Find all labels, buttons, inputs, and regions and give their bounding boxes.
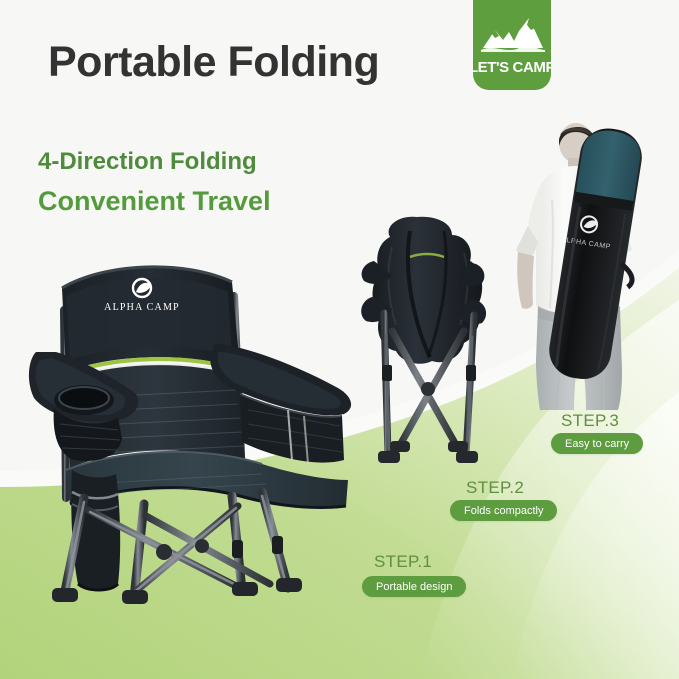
frame-clips [382,365,476,381]
folded-chair-feet [378,441,478,463]
step-2-badge: Folds compactly [450,500,557,521]
lets-camp-wordmark: LET'S CAMP [473,59,551,76]
cup-holder [54,385,114,415]
subtitle-line-1: 4-Direction Folding [38,148,257,176]
frame-hinge [421,382,435,396]
step-1-badge: Portable design [362,576,466,597]
step-1-label: STEP.1 [374,552,432,572]
promo-banner: Portable Folding 4-Direction Folding Con… [0,0,679,679]
step-2-label: STEP.2 [466,478,524,498]
step-3-label: STEP.3 [561,411,619,431]
page-title: Portable Folding [48,41,379,84]
subtitle-line-2: Convenient Travel [38,186,271,217]
lets-camp-logo: LET'S CAMP [473,0,551,90]
step-3-image-person-carrying-bag: ALPHA CAMP [500,110,679,410]
chair-brand-text: ALPHA CAMP [104,302,180,313]
step-3-badge: Easy to carry [551,433,643,454]
mountain-icon [481,18,545,52]
step-1-image-open-chair: ALPHA CAMP [26,248,386,628]
